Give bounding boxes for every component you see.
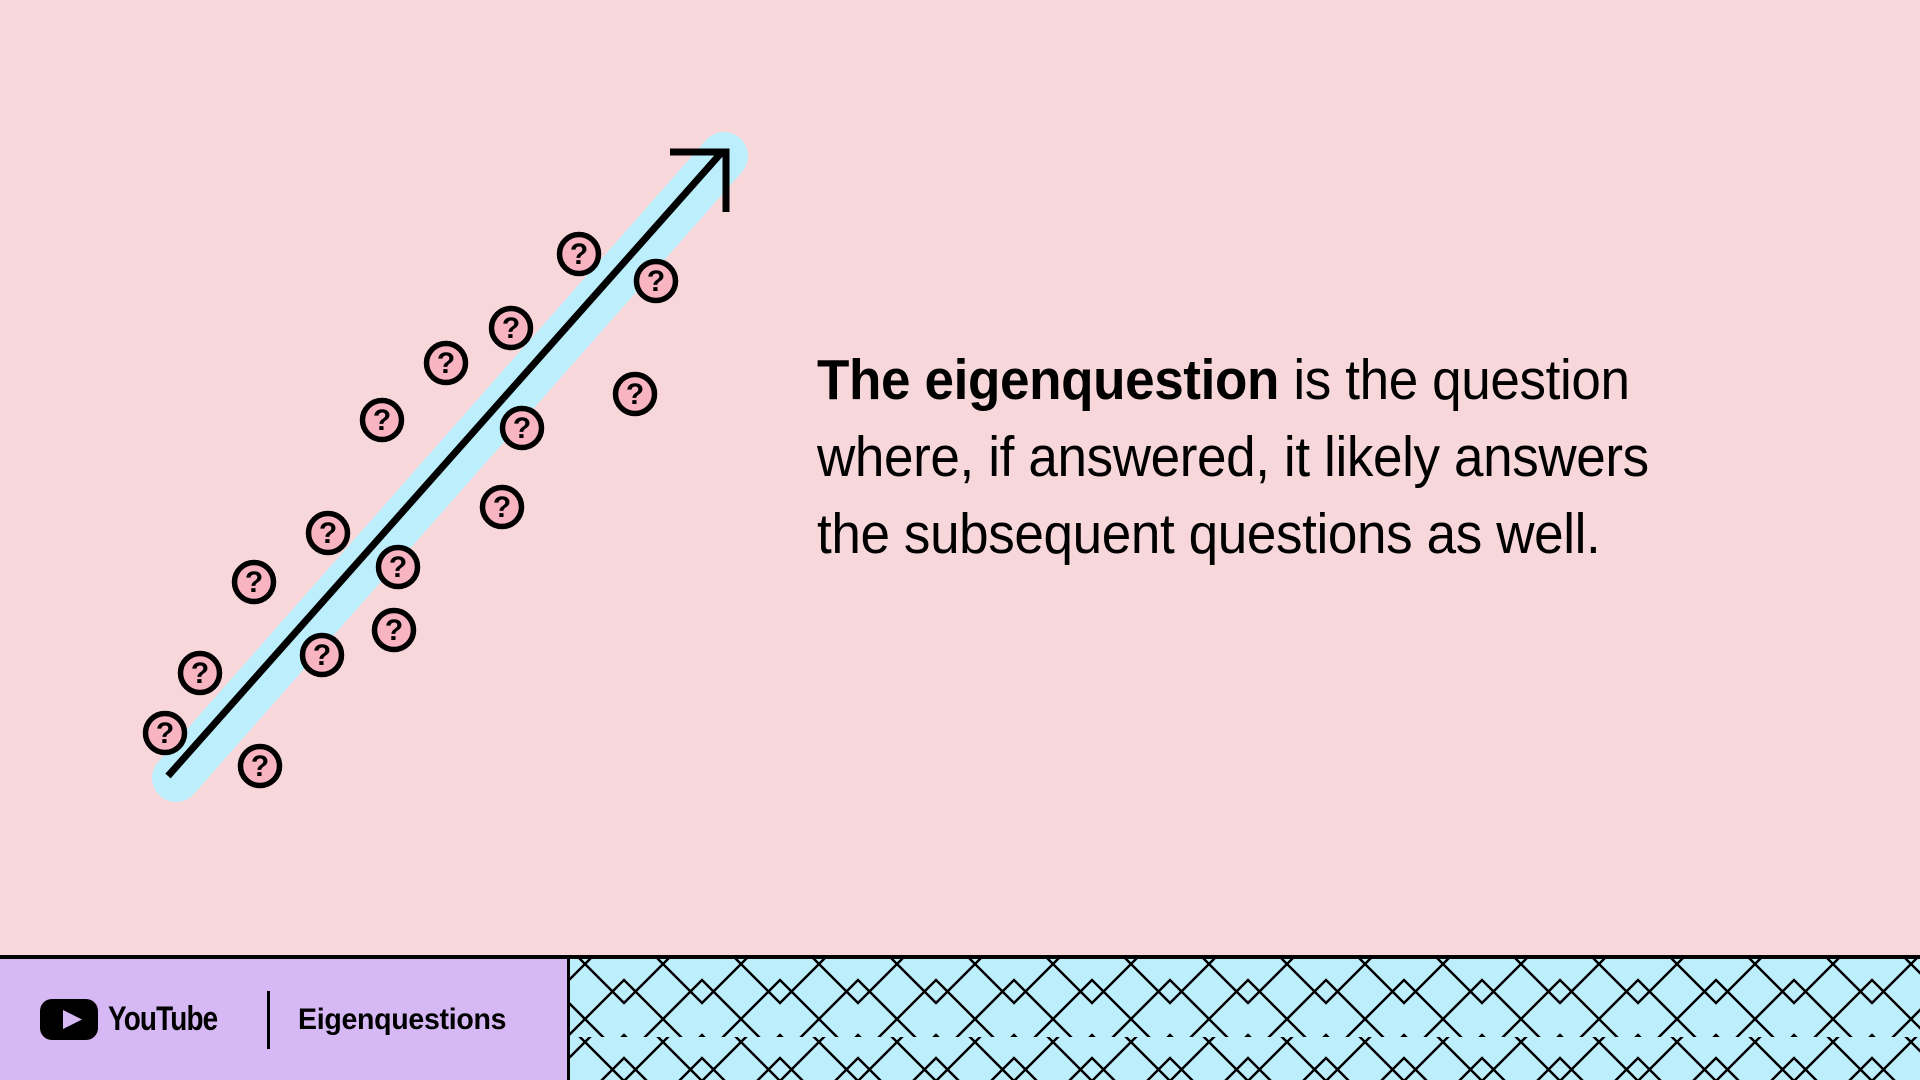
question-marker: ? [375,611,414,650]
question-marker: ? [181,654,220,693]
question-mark-glyph: ? [437,347,455,380]
question-mark-glyph: ? [245,566,263,599]
question-mark-glyph: ? [251,750,269,783]
main-canvas: ???????????????? The eigenquestion is th… [0,0,1920,955]
channel-name-label: Eigenquestions [298,1003,506,1037]
question-mark-glyph: ? [191,657,209,690]
question-mark-glyph: ? [156,717,174,750]
question-marker: ? [309,514,348,553]
statement-lede: The eigenquestion [817,348,1279,412]
question-mark-glyph: ? [313,639,331,672]
question-marker: ? [637,262,676,301]
question-mark-glyph: ? [385,614,403,647]
question-mark-glyph: ? [626,378,644,411]
question-marker: ? [146,714,185,753]
eigenquestion-diagram: ???????????????? [0,0,820,820]
svg-text:YouTube: YouTube [108,1003,218,1037]
question-marker: ? [235,563,274,602]
brand-divider [267,991,270,1049]
question-mark-glyph: ? [502,312,520,345]
question-marker: ? [560,235,599,274]
trend-arrow-shaft [168,152,722,776]
question-mark-glyph: ? [647,265,665,298]
question-marker: ? [503,409,542,448]
question-marker: ? [303,636,342,675]
question-marker: ? [379,548,418,587]
question-mark-glyph: ? [373,404,391,437]
youtube-wordmark-icon: YouTube [108,1003,243,1037]
question-mark-glyph: ? [319,517,337,550]
question-marker: ? [241,747,280,786]
question-marker: ? [616,375,655,414]
question-mark-glyph: ? [389,551,407,584]
question-marker: ? [492,309,531,348]
question-marker: ? [363,401,402,440]
highlight-band [176,156,724,778]
question-mark-glyph: ? [493,491,511,524]
brand-panel: YouTube Eigenquestions [0,959,570,1080]
youtube-logo-icon: YouTube [40,999,243,1040]
statement-text: The eigenquestion is the question where,… [817,342,1682,573]
question-mark-glyph: ? [513,412,531,445]
question-marker: ? [483,488,522,527]
slide-root: ???????????????? The eigenquestion is th… [0,0,1920,1080]
footer-bar: YouTube Eigenquestions [0,955,1920,1080]
question-marker: ? [427,344,466,383]
question-mark-glyph: ? [570,238,588,271]
